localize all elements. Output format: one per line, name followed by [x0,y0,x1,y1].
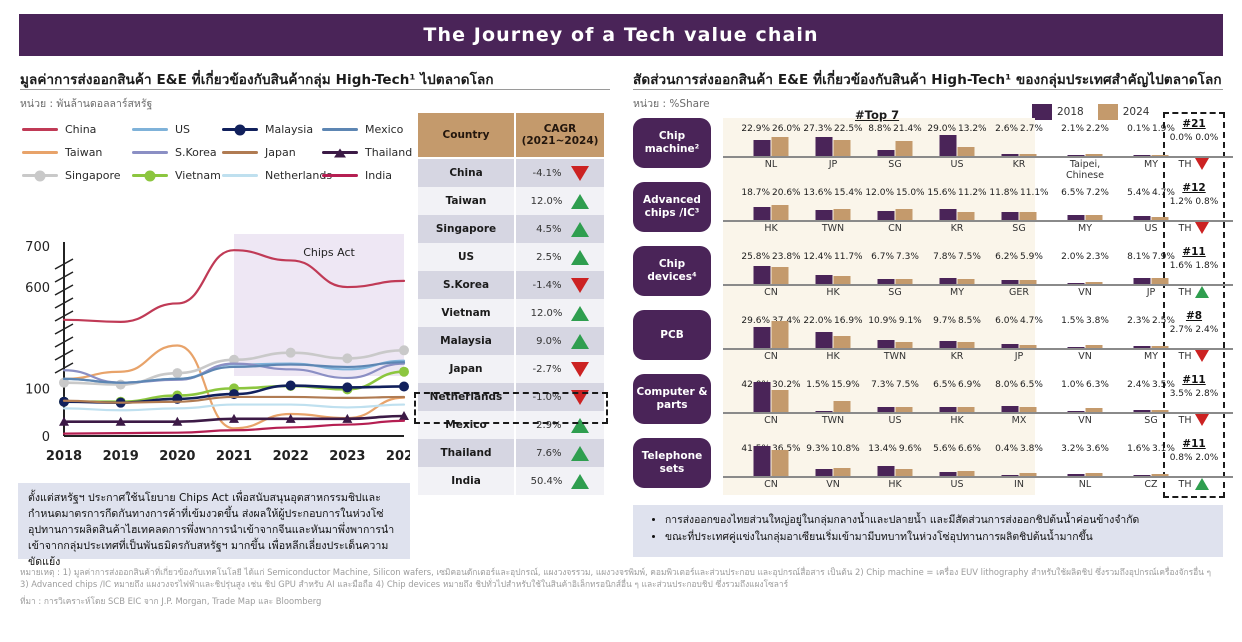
thailand-code-label: TH [1179,351,1192,362]
bar-pair [940,471,975,476]
country-code-label: TWN [822,416,844,427]
y-axis-tick-label: 600 [25,281,50,296]
bar-value-2018: 11.8% [989,188,1018,198]
legend-item-label: Singapore [65,169,121,182]
bar-value-2018: 5.6% [933,444,956,454]
bar-value-2024: 2.3% [1086,252,1109,262]
country-code-label: US [889,416,902,427]
bar-pair [1068,345,1103,348]
bar-value-2018: 2.0% [1061,252,1084,262]
bar-2024 [896,407,913,412]
arrow-up-icon [571,250,589,265]
legend-triangle-marker-icon [334,148,346,157]
country-code-label: MX [1012,416,1027,427]
cagr-table-row: Netherlands-1.0% [418,383,604,411]
bar-2018 [878,407,895,412]
bar-2018 [1068,474,1085,476]
bar-pair [878,141,913,156]
bar-2018 [816,411,833,413]
thailand-rank: #8 [1166,310,1222,322]
bar-2018 [816,210,833,220]
bar-value-2018: 5.4% [1127,188,1150,198]
bar-2024 [834,468,851,476]
left-insight-box: ตั้งแต่สหรัฐฯ ประกาศใช้นโยบาย Chips Act … [18,483,410,559]
bar-pair [816,468,851,476]
bar-value-2024: 3.8% [1020,444,1043,454]
right-title-rule [633,89,1223,90]
bar-value-labels: 12.0%15.0% [865,188,924,198]
legend-line-icon [132,128,168,131]
country-code-label: HK [826,352,839,363]
x-axis-tick-label: 2024 [386,449,410,464]
bar-value-2024: 6.5% [1020,380,1043,390]
bar-value-labels: 25.8%23.8% [741,252,800,262]
bar-value-labels: 22.0%16.9% [803,316,862,326]
bar-value-labels: 15.6%11.2% [927,188,986,198]
cagr-value-cell: -1.4% [514,271,604,299]
cagr-table-row: Malaysia9.0% [418,327,604,355]
bar-2018 [1002,280,1019,284]
bar-2018 [1002,406,1019,412]
bar-pair [1134,346,1169,348]
bar-value-2018: 22.9% [741,124,770,134]
bar-2024 [896,469,913,476]
bar-pair [1134,474,1169,476]
bar-pair [816,275,851,284]
legend-line-icon [222,174,258,177]
bar-value-2018: 1.0% [1061,380,1084,390]
bar-2024 [1020,212,1037,220]
cagr-value: 4.5% [532,224,562,235]
bar-2024 [1086,345,1103,348]
cagr-value-cell: -2.7% [514,355,604,383]
country-code-label: MY [1144,352,1158,363]
cagr-table-row: Thailand7.6% [418,439,604,467]
arrow-down-icon [1195,222,1209,234]
bar-value-2024: 11.2% [958,188,987,198]
x-axis-tick-label: 2018 [46,449,82,464]
country-code-label: HK [826,288,839,299]
bar-pair [940,278,975,284]
bar-2024 [1020,345,1037,348]
country-bar-group: 9.3%10.8%VN [805,432,861,495]
bar-group-area: 41.5%36.5%CN9.3%10.8%VN13.4%9.6%HK5.6%6.… [723,432,1242,495]
category-pill[interactable]: Chip devices⁴ [633,246,711,296]
thailand-values: 0.0% 0.0% [1166,133,1222,143]
country-code-label: CN [764,352,778,363]
data-point-marker [116,380,126,390]
country-code-label: VN [826,480,840,491]
bar-2024 [772,267,789,284]
bar-value-2018: 0.4% [995,444,1018,454]
bar-2018 [1134,278,1151,284]
thailand-code-label: TH [1179,479,1192,490]
country-code-label: CN [888,224,902,235]
country-bar-group: 42.0%30.2%CN [743,368,799,431]
product-row: Chip machine²22.9%26.0%NL27.3%22.5%JP8.8… [633,112,1225,175]
country-code-label: SG [1144,416,1157,427]
bar-2024 [1152,346,1169,348]
country-code-label: NL [1079,480,1091,491]
footnotes: หมายเหตุ : 1) มูลค่าการส่งออกสินค้าที่เก… [20,566,1220,608]
bar-2018 [1068,215,1085,220]
bar-value-2018: 9.3% [806,444,829,454]
cagr-table-header: Country CAGR (2021~2024) [418,113,604,159]
country-bar-group: 1.0%6.3%VN [1057,368,1113,431]
legend-item-label: S.Korea [175,146,217,159]
legend-line-icon [22,151,58,154]
cagr-value-cell: -4.1% [514,159,604,187]
bar-value-labels: 27.3%22.5% [803,124,862,134]
bar-value-2018: 6.7% [871,252,894,262]
country-bar-group: 41.5%36.5%CN [743,432,799,495]
category-pill[interactable]: Computer & parts [633,374,711,424]
bar-pair [1002,406,1037,412]
country-bar-group: 27.3%22.5%JP [805,112,861,175]
bar-value-labels: 3.2%3.6% [1061,444,1109,454]
bar-2024 [1020,407,1037,412]
arrow-up-icon [571,222,589,237]
bar-2024 [772,137,789,156]
cagr-header-country: Country [418,113,514,157]
bar-value-2024: 15.4% [834,188,863,198]
right-section-title: สัดส่วนการส่งออกสินค้า E&E ที่เกี่ยวข้อง… [633,68,1222,90]
country-bar-group: 1.5%3.8%VN [1057,304,1113,367]
bar-pair [940,407,975,412]
thailand-values: 1.2% 0.8% [1166,197,1222,207]
cagr-value: 2.9% [532,420,562,431]
bar-2024 [834,401,851,412]
cagr-value: -4.1% [532,168,562,179]
bar-value-2018: 13.4% [868,444,897,454]
y-axis-tick-label: 700 [25,240,50,255]
bar-2024 [958,212,975,220]
category-pill[interactable]: Chip machine² [633,118,711,168]
bar-value-2018: 2.3% [1127,316,1150,326]
bar-pair [1002,154,1037,156]
legend-circle-marker-icon [35,170,46,181]
country-bar-group: 2.0%2.3%VN [1057,240,1113,303]
bar-2018 [940,407,957,412]
legend-item-japan: Japan [222,146,296,159]
bar-pair [940,209,975,220]
category-label: Chip machine² [633,130,711,156]
country-code-label: KR [1013,160,1026,171]
bar-value-2024: 11.1% [1020,188,1049,198]
x-axis-tick-label: 2019 [103,449,139,464]
arrow-down-icon [571,166,589,181]
insight-bullet: ขณะที่ประเทศคู่แข่งในกลุ่มอาเซียนเริ่มเข… [665,529,1213,546]
bar-2018 [878,150,895,156]
bar-2018 [754,446,771,476]
cagr-header-cagr: CAGR (2021~2024) [514,113,604,157]
bar-value-labels: 11.8%11.1% [989,188,1048,198]
line-series-japan [64,397,404,403]
bar-value-2024: 10.8% [831,444,860,454]
bar-2018 [878,211,895,220]
category-pill[interactable]: Advanced chips /IC³ [633,182,711,232]
product-row: Chip devices⁴25.8%23.8%CN12.4%11.7%HK6.7… [633,240,1225,303]
x-axis-tick-label: 2023 [329,449,365,464]
bar-2024 [958,471,975,476]
footnote-note: หมายเหตุ : 1) มูลค่าการส่งออกสินค้าที่เก… [20,566,1220,590]
cagr-country-cell: Thailand [418,439,514,467]
bar-group-area: 29.6%37.4%CN22.0%16.9%HK10.9%9.1%TWN9.7%… [723,304,1242,367]
bar-2018 [940,209,957,220]
cagr-table-row: Singapore4.5% [418,215,604,243]
country-code-label: JP [1147,288,1156,299]
data-point-marker [342,382,352,392]
cagr-value: 50.4% [531,476,563,487]
country-bar-group: 15.6%11.2%KR [929,176,985,239]
bar-value-2018: 1.5% [1061,316,1084,326]
bar-2018 [940,278,957,284]
bar-2024 [1152,278,1169,284]
bar-value-2018: 7.3% [871,380,894,390]
bar-value-2018: 8.8% [868,124,891,134]
bar-pair [940,135,975,156]
bar-2024 [1152,410,1169,413]
bar-value-2024: 9.6% [899,444,922,454]
bar-value-2018: 9.7% [933,316,956,326]
bar-value-2024: 15.9% [831,380,860,390]
bar-value-2018: 6.5% [933,380,956,390]
data-point-marker [399,367,409,377]
cagr-table-row: India50.4% [418,467,604,495]
bar-2024 [834,209,851,220]
legend-item-label: Malaysia [265,123,313,136]
country-code-label: SG [888,288,901,299]
bar-value-2018: 29.0% [927,124,956,134]
bar-value-labels: 13.6%15.4% [803,188,862,198]
cagr-value: 12.0% [531,196,563,207]
chips-act-annotation: Chips Act [303,246,355,259]
bar-2018 [1002,154,1019,156]
bar-pair [754,446,789,476]
bar-value-labels: 8.8%21.4% [868,124,921,134]
bar-value-labels: 1.5%15.9% [806,380,859,390]
bar-value-labels: 6.5%7.2% [1061,188,1109,198]
country-code-label: US [951,480,964,491]
bar-value-2018: 18.7% [741,188,770,198]
country-code-label: TWN [822,224,844,235]
country-bar-group: 13.6%15.4%TWN [805,176,861,239]
bar-pair [1002,344,1037,348]
arrow-down-icon [1195,414,1209,426]
cagr-table-row: Mexico2.9% [418,411,604,439]
bar-2024 [1086,154,1103,156]
product-row: Computer & parts42.0%30.2%CN1.5%15.9%TWN… [633,368,1225,431]
chart-y-labels: 0100600700 [25,240,50,445]
legend-item-malaysia: Malaysia [222,123,313,136]
bar-pair [1002,212,1037,220]
cagr-country-cell: Mexico [418,411,514,439]
slide-title: The Journey of a Tech value chain [423,24,818,46]
bar-2024 [834,336,851,348]
bar-value-2024: 9.1% [899,316,922,326]
bar-value-2018: 6.0% [995,316,1018,326]
product-row: PCB29.6%37.4%CN22.0%16.9%HK10.9%9.1%TWN9… [633,304,1225,367]
data-point-marker [399,381,409,391]
arrow-up-icon [1195,478,1209,490]
cagr-table-row: Vietnam12.0% [418,299,604,327]
country-bar-group: 6.5%7.2%MY [1057,176,1113,239]
cagr-value: -1.4% [532,280,562,291]
right-insight-list: การส่งออกของไทยส่วนใหญ่อยู่ในกลุ่มกลางน้… [643,512,1213,545]
thailand-trend: TH [1166,158,1222,170]
bar-value-labels: 22.9%26.0% [741,124,800,134]
thailand-trend: TH [1166,414,1222,426]
cagr-value-cell: 50.4% [514,467,604,495]
thailand-code-label: TH [1179,287,1192,298]
legend-item-taiwan: Taiwan [22,146,102,159]
data-point-marker [172,368,182,378]
bar-2024 [834,276,851,284]
country-code-label: KR [951,224,964,235]
bar-value-labels: 5.6%6.6% [933,444,981,454]
bar-2018 [816,275,833,284]
country-code-label: SG [1012,224,1025,235]
country-bar-group: 9.7%8.5%KR [929,304,985,367]
country-bar-group: 12.0%15.0%CN [867,176,923,239]
country-bar-group: 5.6%6.6%US [929,432,985,495]
bar-2024 [772,450,789,476]
bar-value-labels: 2.0%2.3% [1061,252,1109,262]
category-pill[interactable]: PCB [633,310,711,360]
bar-pair [940,341,975,348]
cagr-value-cell: 7.6% [514,439,604,467]
data-point-marker [286,381,296,391]
legend-item-label: India [365,169,392,182]
line-chart-svg: Chips Act 2018201920202021202220232024 0… [18,228,410,476]
cagr-table: Country CAGR (2021~2024) China-4.1%Taiwa… [418,113,604,495]
arrow-down-icon [1195,158,1209,170]
cagr-table-row: US2.5% [418,243,604,271]
legend-item-skorea: S.Korea [132,146,217,159]
bar-2018 [816,332,833,348]
cagr-value-cell: 2.5% [514,243,604,271]
bar-value-labels: 6.2%5.9% [995,252,1043,262]
bar-2024 [958,342,975,348]
bar-2024 [1086,215,1103,220]
bar-value-2024: 5.9% [1020,252,1043,262]
bar-2018 [1002,475,1019,477]
legend-item-label: Thailand [365,146,412,159]
bar-2024 [1020,473,1037,476]
country-bar-group: 3.2%3.6%NL [1057,432,1113,495]
bar-2018 [940,135,957,156]
thailand-rank: #11 [1166,438,1222,450]
bar-pair [816,209,851,220]
product-row: Advanced chips /IC³18.7%20.6%HK13.6%15.4… [633,176,1225,239]
cagr-value: -2.7% [532,364,562,375]
bar-value-2018: 22.0% [803,316,832,326]
x-axis-tick-label: 2021 [216,449,252,464]
bar-2024 [772,390,789,412]
legend-line-icon [322,151,358,154]
country-code-label: HK [764,224,777,235]
bar-value-2024: 7.5% [896,380,919,390]
category-label: PCB [660,329,683,342]
thailand-rank: #11 [1166,374,1222,386]
bar-2024 [1086,473,1103,476]
legend-item-label: Mexico [365,123,403,136]
thailand-rank: #11 [1166,246,1222,258]
cagr-country-cell: US [418,243,514,271]
bar-pair [1134,155,1169,157]
bar-value-2018: 12.4% [803,252,832,262]
country-bar-group: 12.4%11.7%HK [805,240,861,303]
bar-2024 [1086,408,1103,413]
country-bar-group: 29.6%37.4%CN [743,304,799,367]
bar-value-2018: 1.5% [806,380,829,390]
cagr-value: 12.0% [531,308,563,319]
country-bar-group: 6.7%7.3%SG [867,240,923,303]
bar-value-2018: 27.3% [803,124,832,134]
bar-2024 [772,321,789,348]
cagr-value-cell: 4.5% [514,215,604,243]
cagr-value-cell: -1.0% [514,383,604,411]
product-row: Telephone sets41.5%36.5%CN9.3%10.8%VN13.… [633,432,1225,495]
legend-item-label: Vietnam [175,169,221,182]
bar-2018 [940,341,957,348]
data-point-marker [342,353,352,363]
category-pill[interactable]: Telephone sets [633,438,711,488]
bar-value-2024: 8.5% [958,316,981,326]
bar-2024 [1152,155,1169,157]
bar-value-labels: 8.0%6.5% [995,380,1043,390]
bar-pair [1002,473,1037,476]
bar-pair [1002,280,1037,284]
country-bar-group: 6.0%4.7%JP [991,304,1047,367]
country-bar-group: 13.4%9.6%HK [867,432,923,495]
bar-value-2024: 3.8% [1086,316,1109,326]
bar-value-2024: 13.2% [958,124,987,134]
y-axis-tick-label: 0 [42,430,50,445]
cagr-country-cell: India [418,467,514,495]
bar-pair [1068,473,1103,476]
cagr-table-row: Japan-2.7% [418,355,604,383]
legend-line-icon [132,151,168,154]
legend-line-icon [132,174,168,177]
right-unit-label: หน่วย : %Share [633,95,710,112]
country-bar-group: 10.9%9.1%TWN [867,304,923,367]
chart-x-labels: 2018201920202021202220232024 [46,449,410,464]
bar-2018 [754,327,771,348]
cagr-value: -1.0% [532,392,562,403]
bar-pair [754,266,789,284]
bar-value-2018: 25.8% [741,252,770,262]
legend-item-vietnam: Vietnam [132,169,221,182]
legend-item-label: Taiwan [65,146,102,159]
legend-line-icon [22,174,58,177]
bar-pair [816,332,851,348]
legend-item-mexico: Mexico [322,123,403,136]
arrow-down-icon [571,362,589,377]
thailand-values: 1.6% 1.8% [1166,261,1222,271]
footnote-source: ที่มา : การวิเคราะห์โดย SCB EIC จาก J.P.… [20,595,1220,607]
bar-2018 [1134,155,1151,157]
bar-group-area: 22.9%26.0%NL27.3%22.5%JP8.8%21.4%SG29.0%… [723,112,1242,175]
cagr-value: 7.6% [532,448,562,459]
country-bar-group: 7.8%7.5%MY [929,240,985,303]
country-code-label: GER [1009,288,1029,299]
bar-2018 [1002,212,1019,220]
cagr-value-cell: 9.0% [514,327,604,355]
country-bar-group: 29.0%13.2%US [929,112,985,175]
legend-line-icon [322,174,358,177]
data-point-marker [399,345,409,355]
